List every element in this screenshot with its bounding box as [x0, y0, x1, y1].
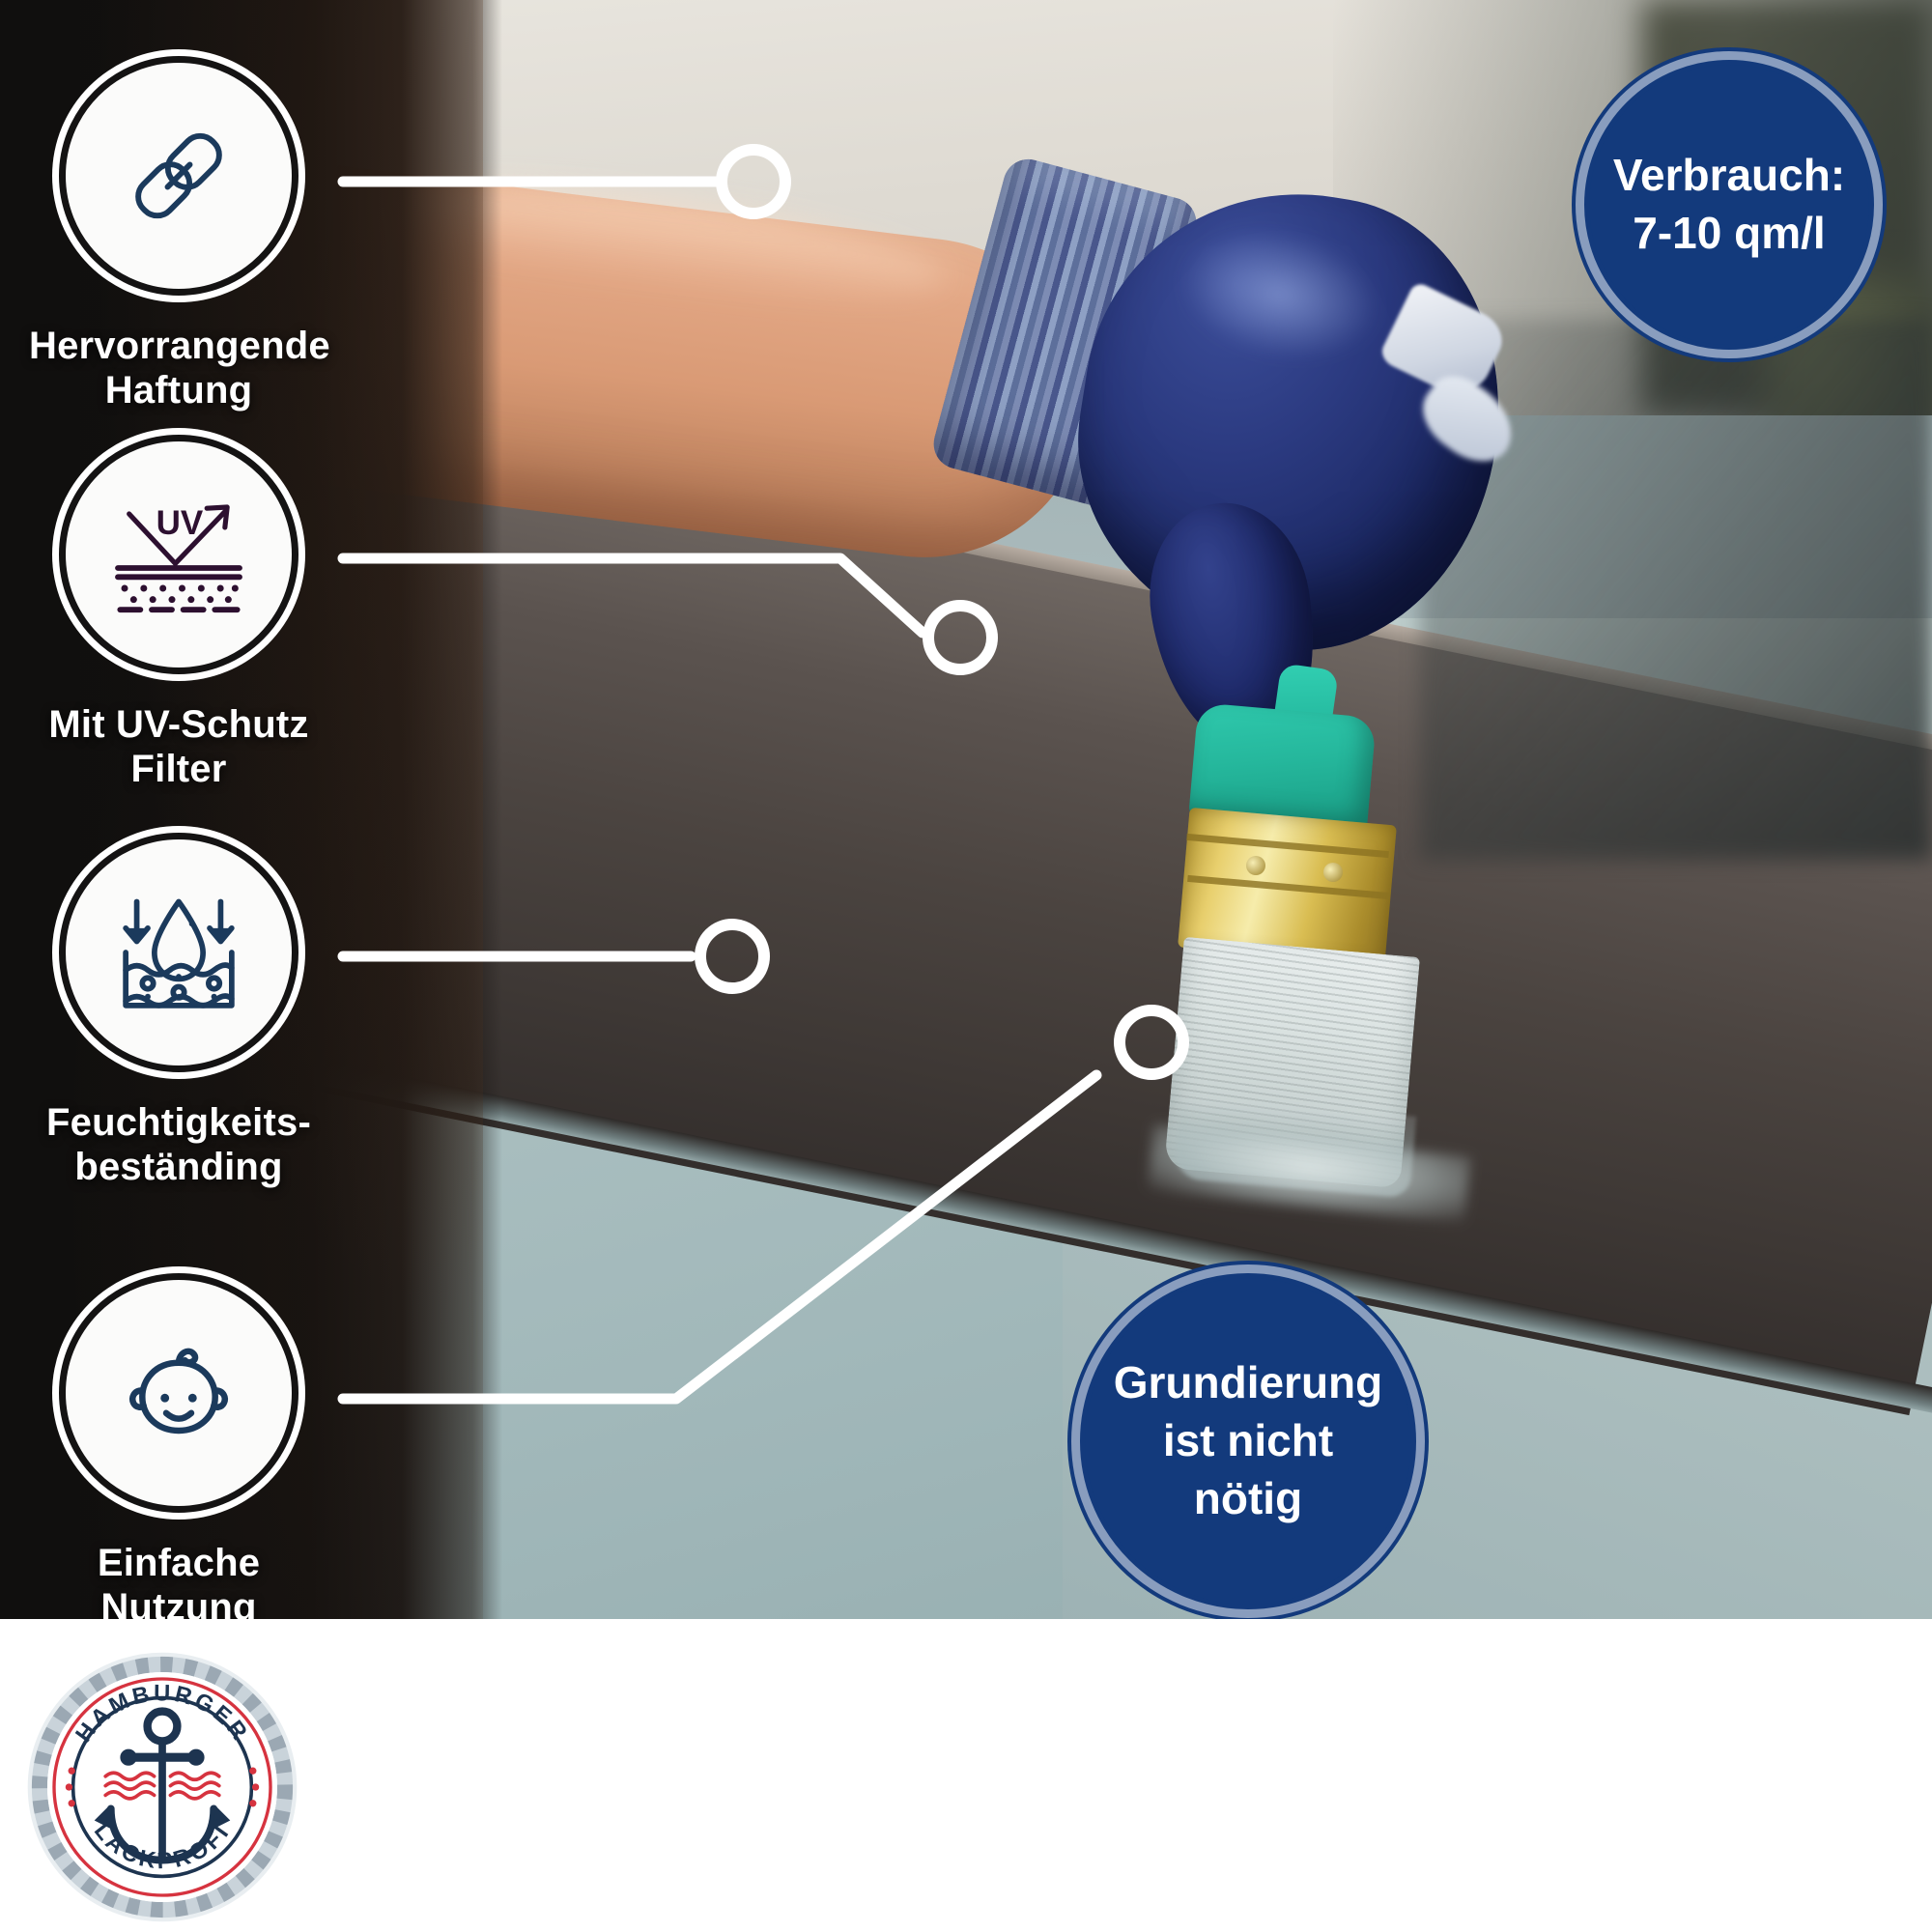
- badge-text-line: nötig: [1114, 1470, 1383, 1528]
- uv-shield-icon: UV: [111, 493, 246, 616]
- feature-label-line: Hervorrangende: [29, 325, 328, 369]
- badge-text-line: Verbrauch:: [1613, 147, 1845, 205]
- feature-uv-circle: UV: [59, 435, 298, 674]
- feature-adhesion-circle: [59, 56, 298, 296]
- feature-label-line: Haftung: [29, 369, 328, 413]
- water-drop-surface-icon: [110, 891, 247, 1014]
- anchor-rope-logo-icon: HAMBURGER LACKPROFI: [27, 1652, 298, 1922]
- feature-moisture-resistant: Feuchtigkeits- beständing: [29, 833, 328, 1189]
- feature-easy-use: Einfache Nutzung: [29, 1273, 328, 1630]
- feature-adhesion-label: Hervorrangende Haftung: [29, 325, 328, 412]
- badge-no-primer: Grundierung ist nicht nötig: [1080, 1273, 1416, 1609]
- feature-label-line: Mit UV-Schutz: [29, 703, 328, 748]
- baby-face-icon: [116, 1330, 241, 1456]
- feature-label-line: Filter: [29, 748, 328, 792]
- badge-text-line: 7-10 qm/l: [1613, 205, 1845, 263]
- badge-no-primer-text: Grundierung ist nicht nötig: [1093, 1354, 1405, 1527]
- badge-text-line: Grundierung: [1114, 1354, 1383, 1412]
- feature-uv-protection: UV: [29, 435, 328, 791]
- feature-label-line: Einfache Nutzung: [29, 1542, 328, 1630]
- badge-consumption-text: Verbrauch: 7-10 qm/l: [1592, 147, 1866, 263]
- feature-adhesion: Hervorrangende Haftung: [29, 56, 328, 412]
- feature-moisture-circle: [59, 833, 298, 1072]
- brand-logo[interactable]: HAMBURGER LACKPROFI: [27, 1652, 298, 1922]
- feature-label-line: Feuchtigkeits-: [29, 1101, 328, 1146]
- feature-label-line: beständing: [29, 1146, 328, 1190]
- feature-uv-label: Mit UV-Schutz Filter: [29, 703, 328, 791]
- svg-text:UV: UV: [156, 504, 204, 542]
- feature-easy-use-label: Einfache Nutzung: [29, 1542, 328, 1630]
- footer-bar: HAMBURGER LACKPROFI 1-2 Anstriche empfoh…: [0, 1633, 1932, 1932]
- feature-moisture-label: Feuchtigkeits- beständing: [29, 1101, 328, 1189]
- badge-consumption: Verbrauch: 7-10 qm/l: [1584, 60, 1874, 350]
- chain-link-icon: [117, 114, 241, 238]
- infographic-root: Hervorrangende Haftung UV: [0, 0, 1932, 1932]
- badge-text-line: ist nicht: [1114, 1412, 1383, 1470]
- feature-easy-use-circle: [59, 1273, 298, 1513]
